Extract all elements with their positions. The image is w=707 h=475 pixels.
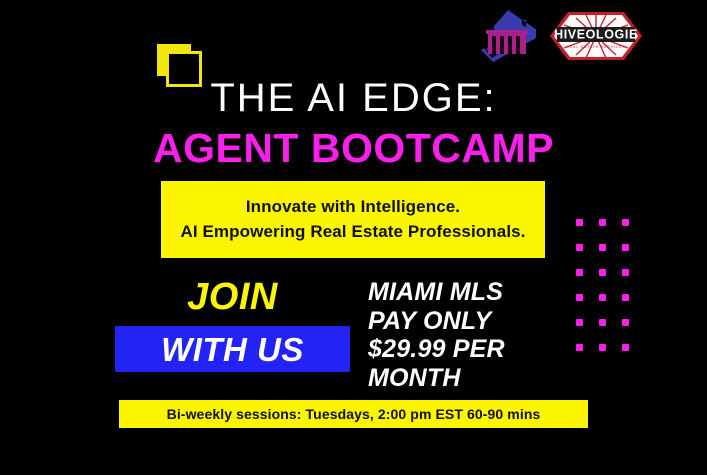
schedule-text: Bi-weekly sessions: Tuesdays, 2:00 pm ES… xyxy=(167,406,541,422)
join-label: JOIN xyxy=(115,278,350,316)
subtitle-line-1: Innovate with Intelligence. xyxy=(246,195,460,220)
price-line-3: $29.99 PER xyxy=(368,335,568,364)
hiveologie-tagline: REAL ESTATE SERVICES xyxy=(567,45,626,49)
decorative-dot xyxy=(622,294,629,301)
decorative-dot xyxy=(622,344,629,351)
decorative-dot xyxy=(576,244,583,251)
decorative-dot xyxy=(622,244,629,251)
price-line-1: MIAMI MLS xyxy=(368,278,568,307)
decorative-dot xyxy=(576,219,583,226)
price-line-2: PAY ONLY xyxy=(368,307,568,336)
price-line-4: MONTH xyxy=(368,364,568,393)
hiveologie-logo: HIVEOLOGIE REAL ESTATE SERVICES xyxy=(548,10,644,62)
headline-secondary: AGENT BOOTCAMP xyxy=(0,128,707,169)
decorative-dot xyxy=(599,319,606,326)
decorative-dot xyxy=(599,219,606,226)
decorative-dot xyxy=(599,294,606,301)
price-block: MIAMI MLS PAY ONLY $29.99 PER MONTH xyxy=(368,278,568,392)
decorative-dot xyxy=(576,269,583,276)
schedule-banner: Bi-weekly sessions: Tuesdays, 2:00 pm ES… xyxy=(119,400,588,428)
hiveologie-wordmark: HIVEOLOGIE xyxy=(554,28,638,42)
promo-poster: HIVEOLOGIE REAL ESTATE SERVICES THE AI E… xyxy=(0,0,707,475)
decorative-dot xyxy=(576,319,583,326)
headline-primary: THE AI EDGE: xyxy=(0,78,707,118)
miami-mls-building-logo xyxy=(478,6,540,64)
decorative-dot xyxy=(622,269,629,276)
with-us-label: WITH US xyxy=(161,333,304,366)
decorative-dot-grid xyxy=(576,219,636,359)
decorative-dot xyxy=(599,244,606,251)
decorative-dot xyxy=(599,269,606,276)
subtitle-line-2: AI Empowering Real Estate Professionals. xyxy=(180,220,525,245)
decorative-dot xyxy=(622,219,629,226)
decorative-dot xyxy=(622,319,629,326)
subtitle-panel: Innovate with Intelligence. AI Empowerin… xyxy=(161,181,545,258)
decorative-dot xyxy=(576,344,583,351)
logo-row: HIVEOLOGIE REAL ESTATE SERVICES xyxy=(478,4,646,66)
join-with-us-button[interactable]: WITH US xyxy=(115,326,350,372)
decorative-dot xyxy=(599,344,606,351)
decorative-dot xyxy=(576,294,583,301)
